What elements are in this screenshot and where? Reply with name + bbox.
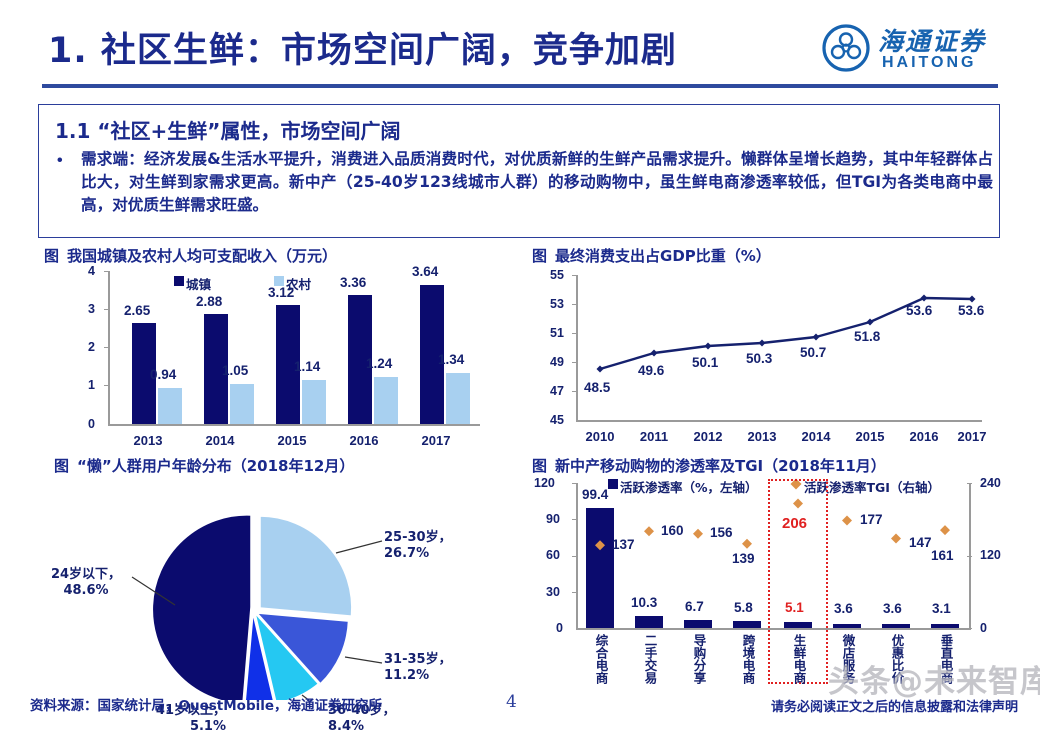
chart3-label-25-30-value: 26.7% bbox=[384, 546, 429, 561]
page-number: 4 bbox=[506, 692, 517, 712]
chart3-label-31-35-name: 31-35岁， bbox=[384, 652, 452, 667]
chart1-value-urban-2017: 3.64 bbox=[412, 264, 438, 279]
chart3-leader-25-30 bbox=[336, 541, 382, 553]
chart3-label-31-35-value: 11.2% bbox=[384, 668, 429, 683]
bullet-marker: • bbox=[57, 152, 63, 170]
chart3-label-under-24: 24岁以下， 48.6% bbox=[40, 567, 132, 600]
chart2-xtick-2013: 2013 bbox=[736, 429, 788, 444]
chart1-xtick-2017: 2017 bbox=[410, 433, 462, 448]
chart4-barvalue-7: 3.1 bbox=[932, 601, 951, 616]
chart-lazy-age-pie: 图“懒”人群用户年龄分布（2018年12月） 25-30岁， 26.7% bbox=[30, 455, 520, 700]
chart1-value-urban-2014: 2.88 bbox=[196, 294, 222, 309]
chart1-value-rural-2014: 1.05 bbox=[222, 363, 248, 378]
chart4-barvalue-2: 6.7 bbox=[685, 599, 704, 614]
haitong-knot-icon bbox=[822, 24, 870, 72]
chart1-value-urban-2013: 2.65 bbox=[124, 303, 150, 318]
chart4-tgivalue-5: 177 bbox=[860, 512, 883, 527]
logo-english-name: HAITONG bbox=[882, 54, 976, 72]
brand-logo: 海通证券 HAITONG bbox=[822, 22, 1012, 78]
chart1-y-axis bbox=[108, 271, 110, 425]
chart2-value-2013: 50.3 bbox=[746, 351, 772, 366]
chart4-barvalue-1: 10.3 bbox=[631, 595, 657, 610]
chart1-title-text: 我国城镇及农村人均可支配收入（万元） bbox=[67, 247, 337, 265]
chart2-xtick-2011: 2011 bbox=[628, 429, 680, 444]
chart4-xtick-4: 生鲜电商 bbox=[792, 634, 805, 684]
chart1-ytick-0: 0 bbox=[88, 417, 95, 431]
chart-consumption-gdp-line: 图最终消费支出占GDP比重（%） 55 53 51 49 47 45 bbox=[520, 245, 1020, 455]
chart1-legend-urban: 城镇 bbox=[186, 274, 211, 293]
chart1-ytick-4: 4 bbox=[88, 264, 95, 278]
chart3-label-31-35: 31-35岁， 11.2% bbox=[384, 652, 452, 685]
chart1-bar-rural-2017 bbox=[446, 373, 470, 424]
summary-textbox: 1.1 “社区+生鲜”属性，市场空间广阔 • 需求端：经济发展&生活水平提升，消… bbox=[38, 104, 1000, 238]
chart4-tgivalue-4: 206 bbox=[782, 515, 807, 532]
chart4-xtick-1: 二手交易 bbox=[643, 634, 656, 684]
chart3-label-25-30-name: 25-30岁， bbox=[384, 530, 452, 545]
chart4-tgivalue-2: 156 bbox=[710, 525, 733, 540]
chart2-value-2015: 51.8 bbox=[854, 329, 880, 344]
watermark: 头条@未来智库 bbox=[828, 656, 1040, 701]
chart4-tgivalue-3: 139 bbox=[732, 551, 755, 566]
chart4-xtick-0: 综合电商 bbox=[594, 634, 607, 684]
chart2-value-2010: 48.5 bbox=[584, 380, 610, 395]
chart1-tag: 图 bbox=[44, 247, 59, 265]
chart3-label-under-24-name: 24岁以下， bbox=[51, 567, 121, 582]
chart1-xtick-2015: 2015 bbox=[266, 433, 318, 448]
chart2-value-2016: 53.6 bbox=[906, 303, 932, 318]
chart4-xtick-3: 跨境电商 bbox=[741, 634, 754, 684]
chart2-xtick-2017: 2017 bbox=[946, 429, 998, 444]
chart3-label-under-24-value: 48.6% bbox=[63, 583, 108, 598]
chart-income-bar: 图我国城镇及农村人均可支配收入（万元） 4 3 2 1 0 城镇 农村 2.6 bbox=[30, 245, 520, 455]
chart4-tgivalue-0: 137 bbox=[612, 537, 635, 552]
chart1-bar-rural-2016 bbox=[374, 377, 398, 424]
chart1-title: 图我国城镇及农村人均可支配收入（万元） bbox=[44, 245, 337, 266]
chart2-xtick-2016: 2016 bbox=[898, 429, 950, 444]
source-note: 资料来源：国家统计局，QuestMobile，海通证券研究所 bbox=[30, 694, 382, 714]
chart3-label-25-30: 25-30岁， 26.7% bbox=[384, 530, 452, 563]
chart2-xtick-2010: 2010 bbox=[574, 429, 626, 444]
chart2-line-series bbox=[520, 245, 1020, 455]
chart3-slice-under-24 bbox=[152, 515, 251, 700]
chart1-x-axis bbox=[108, 424, 480, 426]
chart4-barvalue-0: 99.4 bbox=[582, 487, 608, 502]
chart1-xtick-2013: 2013 bbox=[122, 433, 174, 448]
chart1-value-urban-2016: 3.36 bbox=[340, 275, 366, 290]
section-body-text: 需求端：经济发展&生活水平提升，消费进入品质消费时代，对优质新鲜的生鲜产品需求提… bbox=[81, 148, 993, 217]
chart4-tgivalue-6: 147 bbox=[909, 535, 932, 550]
chart4-barvalue-5: 3.6 bbox=[834, 601, 853, 616]
chart3-label-41-plus-value: 5.1% bbox=[190, 719, 226, 734]
section-heading: 1.1 “社区+生鲜”属性，市场空间广阔 bbox=[55, 115, 400, 144]
slide: 1. 社区生鲜：市场空间广阔，竞争加剧 海通证券 HAITONG 1.1 “社区… bbox=[0, 0, 1040, 720]
chart2-xtick-2015: 2015 bbox=[844, 429, 896, 444]
chart3-leader-31-35 bbox=[345, 657, 382, 663]
chart1-ytick-1: 1 bbox=[88, 378, 95, 392]
chart2-value-2017: 53.6 bbox=[958, 303, 984, 318]
chart1-value-rural-2016: 1.24 bbox=[366, 356, 392, 371]
chart1-bar-rural-2015 bbox=[302, 380, 326, 424]
page-title: 1. 社区生鲜：市场空间广阔，竞争加剧 bbox=[48, 22, 677, 73]
chart4-tgivalue-1: 160 bbox=[661, 523, 684, 538]
chart2-xtick-2012: 2012 bbox=[682, 429, 734, 444]
chart1-value-rural-2017: 1.34 bbox=[438, 352, 464, 367]
chart1-value-rural-2015: 1.14 bbox=[294, 359, 320, 374]
chart3-slice-25-30 bbox=[260, 516, 352, 616]
chart2-value-2012: 50.1 bbox=[692, 355, 718, 370]
chart2-value-2011: 49.6 bbox=[638, 363, 664, 378]
chart3-label-36-40-value: 8.4% bbox=[328, 719, 364, 734]
chart1-ytick-2: 2 bbox=[88, 340, 95, 354]
chart1-legend-swatch-urban bbox=[174, 276, 184, 286]
chart1-bar-rural-2013 bbox=[158, 388, 182, 424]
header-divider bbox=[42, 84, 998, 88]
chart2-value-2014: 50.7 bbox=[800, 345, 826, 360]
chart1-xtick-2016: 2016 bbox=[338, 433, 390, 448]
chart4-tgivalue-7: 161 bbox=[931, 548, 954, 563]
chart4-barvalue-4: 5.1 bbox=[785, 600, 804, 615]
chart4-barvalue-6: 3.6 bbox=[883, 601, 902, 616]
chart4-xtick-2: 导购分享 bbox=[692, 634, 705, 684]
chart1-bar-rural-2014 bbox=[230, 384, 254, 424]
chart1-ytick-3: 3 bbox=[88, 302, 95, 316]
slide-header: 1. 社区生鲜：市场空间广阔，竞争加剧 海通证券 HAITONG bbox=[0, 0, 1040, 96]
chart1-value-urban-2015: 3.12 bbox=[268, 285, 294, 300]
chart4-barvalue-3: 5.8 bbox=[734, 600, 753, 615]
chart1-xtick-2014: 2014 bbox=[194, 433, 246, 448]
chart1-value-rural-2013: 0.94 bbox=[150, 367, 176, 382]
logo-chinese-name: 海通证券 bbox=[878, 22, 986, 58]
chart2-xtick-2014: 2014 bbox=[790, 429, 842, 444]
